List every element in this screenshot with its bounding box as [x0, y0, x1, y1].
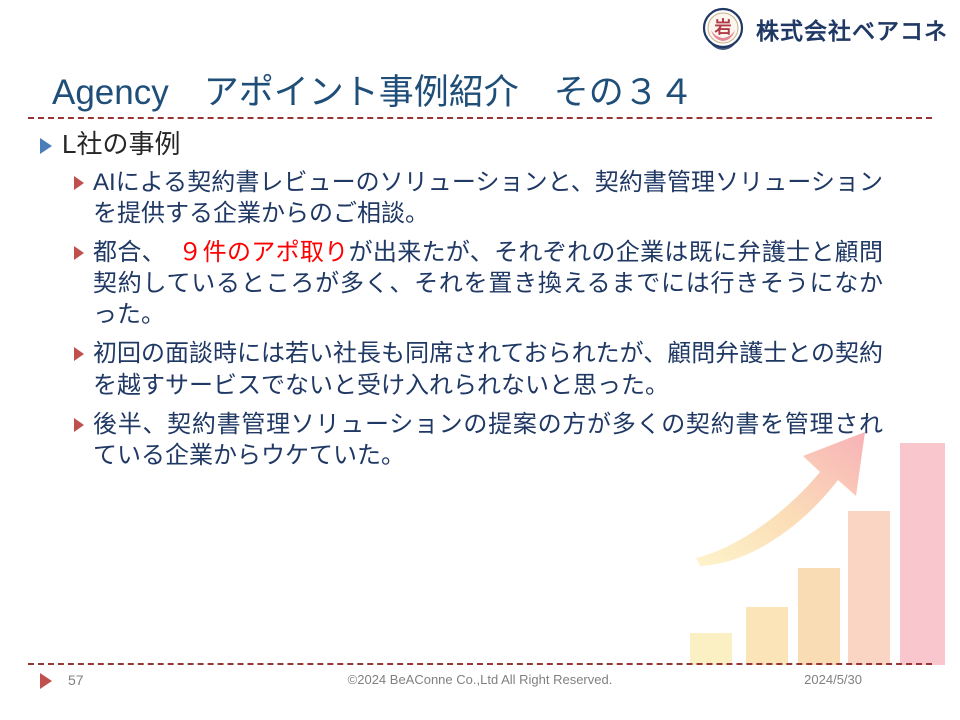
- bullet-level1-label: L社の事例: [62, 128, 180, 161]
- list-item-label: 後半、契約書管理ソリューションの提案の方が多くの契約書を管理されている企業からウ…: [93, 409, 883, 471]
- triangle-right-icon: [74, 246, 84, 260]
- list-item: AIによる契約書レビューのソリューションと、契約書管理ソリューションを提供する企…: [74, 167, 920, 229]
- list-item-label: 都合、 ９件のアポ取りが出来たが、それぞれの企業は既に弁護士と顧問契約していると…: [93, 237, 883, 331]
- slide-body: L社の事例 AIによる契約書レビューのソリューションと、契約書管理ソリューション…: [40, 128, 920, 479]
- text-before-highlight: 都合、: [93, 239, 154, 266]
- triangle-right-icon: [74, 176, 84, 190]
- footer-divider: [28, 663, 932, 665]
- list-item-label: AIによる契約書レビューのソリューションと、契約書管理ソリューションを提供する企…: [93, 167, 883, 229]
- page-title: Agency アポイント事例紹介 その３４: [52, 64, 694, 115]
- triangle-right-icon: [74, 347, 84, 361]
- highlighted-count-text: ９件のアポ取り: [154, 239, 349, 266]
- slide-date: 2024/5/30: [804, 672, 862, 687]
- company-seal-icon: 岩: [700, 6, 746, 52]
- slide-footer: 57 ©2024 BeAConne Co.,Ltd All Right Rese…: [0, 668, 960, 698]
- brand-logo: 岩 株式会社ベアコネ: [700, 6, 948, 52]
- triangle-right-icon: [74, 418, 84, 432]
- title-divider: [28, 117, 932, 119]
- list-item: 初回の面談時には若い社長も同席されておられたが、顧問弁護士との契約を越すサービス…: [74, 338, 920, 400]
- bullet-level2-list: AIによる契約書レビューのソリューションと、契約書管理ソリューションを提供する企…: [40, 167, 920, 472]
- triangle-right-icon: [40, 138, 52, 154]
- bullet-level1: L社の事例: [40, 128, 920, 161]
- list-item: 都合、 ９件のアポ取りが出来たが、それぞれの企業は既に弁護士と顧問契約していると…: [74, 237, 920, 331]
- list-item-label: 初回の面談時には若い社長も同席されておられたが、顧問弁護士との契約を越すサービス…: [93, 338, 883, 400]
- company-name: 株式会社ベアコネ: [756, 12, 948, 46]
- svg-text:岩: 岩: [714, 17, 732, 38]
- slide: 岩 株式会社ベアコネ Agency アポイント事例紹介 その３４: [0, 0, 960, 720]
- list-item: 後半、契約書管理ソリューションの提案の方が多くの契約書を管理されている企業からウ…: [74, 409, 920, 471]
